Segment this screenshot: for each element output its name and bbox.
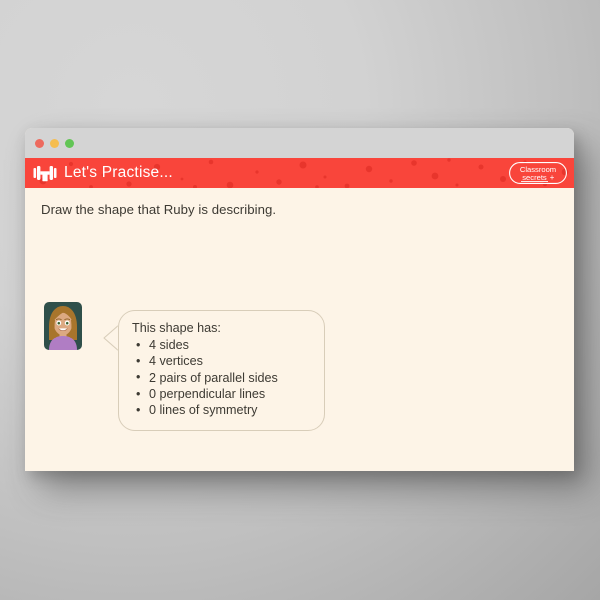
list-item: 0 perpendicular lines bbox=[132, 386, 312, 402]
instruction-text: Draw the shape that Ruby is describing. bbox=[41, 202, 276, 217]
minimize-button[interactable] bbox=[50, 139, 59, 148]
speech-bubble: This shape has: 4 sides 4 vertices 2 pai… bbox=[118, 310, 325, 431]
window-titlebar bbox=[25, 128, 574, 158]
maximize-button[interactable] bbox=[65, 139, 74, 148]
ruby-avatar bbox=[44, 302, 82, 350]
logo-line2: secrets bbox=[522, 173, 547, 182]
speech-bubble-lead: This shape has: bbox=[132, 321, 312, 335]
list-item: 4 sides bbox=[132, 337, 312, 353]
classroom-secrets-logo[interactable]: Classroom secrets + bbox=[509, 162, 567, 184]
dumbbell-icon bbox=[33, 163, 57, 183]
logo-plus: + bbox=[550, 173, 555, 182]
slide-content: Draw the shape that Ruby is describing. bbox=[25, 188, 574, 471]
application-window: Let's Practise... Classroom secrets + Dr… bbox=[25, 128, 574, 471]
lesson-header-bar: Let's Practise... Classroom secrets + bbox=[25, 158, 574, 188]
shape-property-list: 4 sides 4 vertices 2 pairs of parallel s… bbox=[132, 337, 312, 419]
header-title-group: Let's Practise... bbox=[25, 163, 173, 183]
list-item: 2 pairs of parallel sides bbox=[132, 370, 312, 386]
header-title: Let's Practise... bbox=[64, 164, 173, 182]
list-item: 0 lines of symmetry bbox=[132, 402, 312, 418]
close-button[interactable] bbox=[35, 139, 44, 148]
list-item: 4 vertices bbox=[132, 353, 312, 369]
